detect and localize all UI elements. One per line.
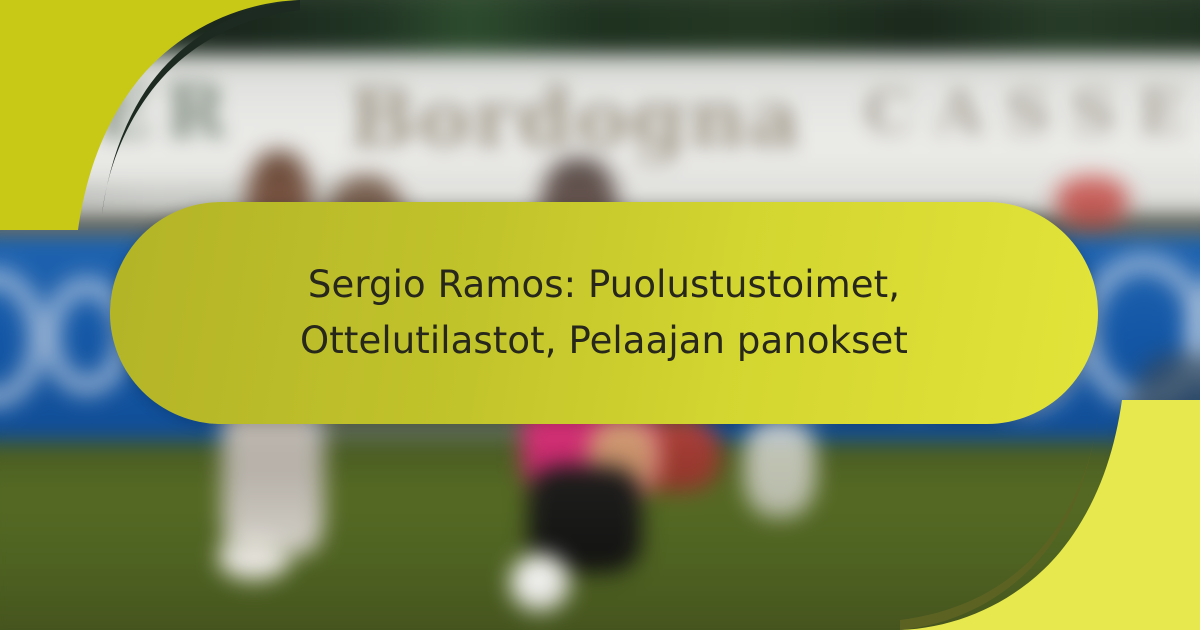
page-title: Sergio Ramos: Puolustustoimet, Ottelutil…	[222, 257, 986, 369]
title-card: Sergio Ramos: Puolustustoimet, Ottelutil…	[110, 202, 1098, 424]
poster-canvas: BER Bordogna CASSE	[0, 0, 1200, 630]
